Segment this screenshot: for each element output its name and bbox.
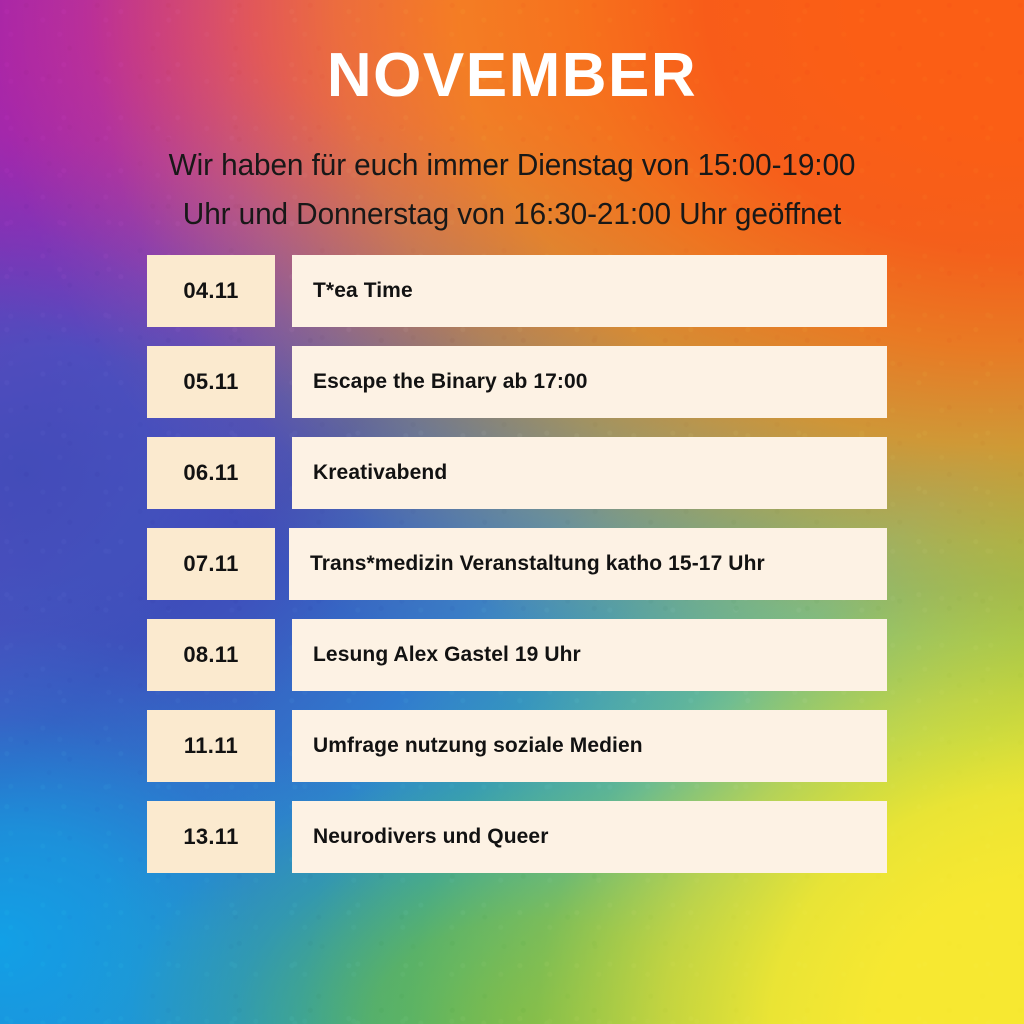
schedule-event: Neurodivers und Queer [292, 801, 887, 873]
schedule-event: Umfrage nutzung soziale Medien [292, 710, 887, 782]
schedule-date: 07.11 [147, 528, 275, 600]
schedule-date: 04.11 [147, 255, 275, 327]
november-schedule-poster: NOVEMBER Wir haben für euch immer Dienst… [0, 0, 1024, 1024]
schedule-row: 13.11 Neurodivers und Queer [147, 801, 887, 873]
opening-hours-text: Wir haben für euch immer Dienstag von 15… [0, 140, 1024, 238]
schedule-event: T*ea Time [292, 255, 887, 327]
schedule-list: 04.11 T*ea Time 05.11 Escape the Binary … [147, 255, 887, 873]
schedule-row: 11.11 Umfrage nutzung soziale Medien [147, 710, 887, 782]
schedule-date: 06.11 [147, 437, 275, 509]
opening-hours-line-1: Wir haben für euch immer Dienstag von 15… [20, 140, 1003, 189]
schedule-row: 04.11 T*ea Time [147, 255, 887, 327]
schedule-date: 13.11 [147, 801, 275, 873]
poster-content: NOVEMBER Wir haben für euch immer Dienst… [0, 0, 1024, 1024]
schedule-date: 05.11 [147, 346, 275, 418]
schedule-date: 08.11 [147, 619, 275, 691]
schedule-event: Kreativabend [292, 437, 887, 509]
page-title: NOVEMBER [0, 45, 1024, 107]
schedule-date: 11.11 [147, 710, 275, 782]
schedule-event: Lesung Alex Gastel 19 Uhr [292, 619, 887, 691]
schedule-row: 08.11 Lesung Alex Gastel 19 Uhr [147, 619, 887, 691]
schedule-event: Trans*medizin Veranstaltung katho 15-17 … [289, 528, 887, 600]
opening-hours-line-2: Uhr und Donnerstag von 16:30-21:00 Uhr g… [20, 189, 1003, 238]
schedule-event: Escape the Binary ab 17:00 [292, 346, 887, 418]
schedule-row: 05.11 Escape the Binary ab 17:00 [147, 346, 887, 418]
schedule-row: 07.11 Trans*medizin Veranstaltung katho … [147, 528, 887, 600]
schedule-row: 06.11 Kreativabend [147, 437, 887, 509]
